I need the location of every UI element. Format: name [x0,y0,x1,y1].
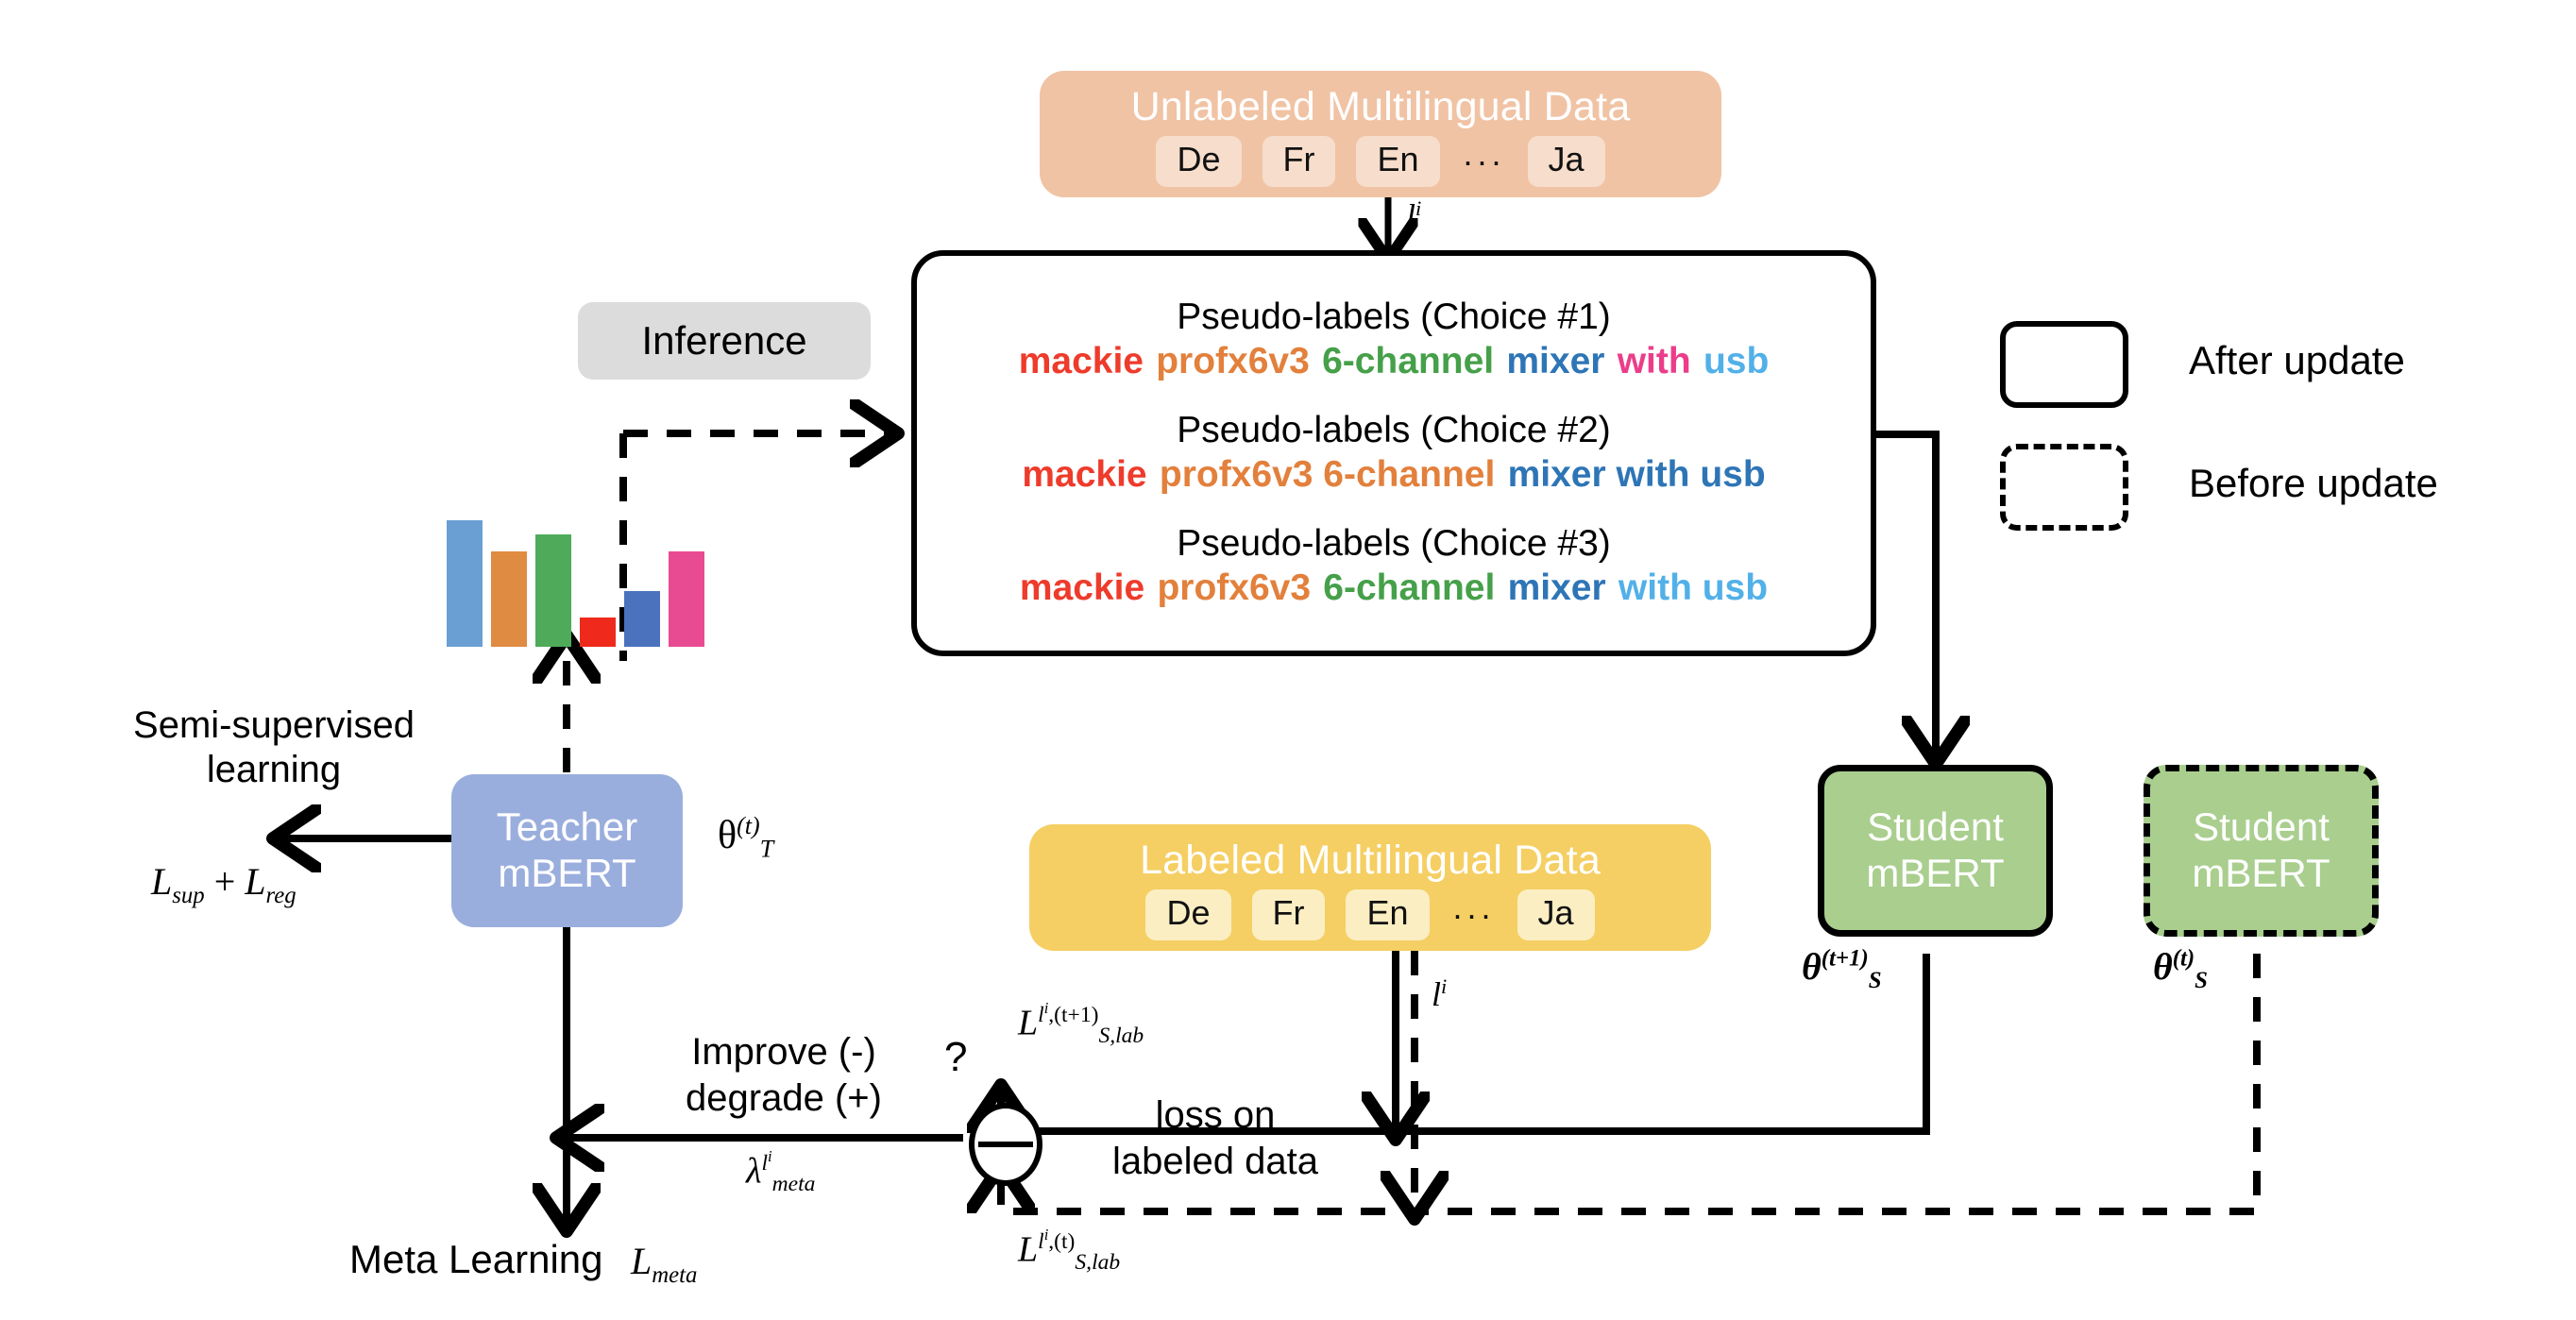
labeled-data-box: Labeled Multilingual Data De Fr En ··· J… [1029,824,1711,951]
bar-6 [669,551,704,647]
semi-supervised-line1: Semi-supervised [104,703,444,748]
token: mackie [1019,341,1144,381]
semi-supervised-learning-label: Semi-supervised learning [104,703,444,792]
chip-de[interactable]: De [1145,889,1230,939]
token: mixer [1506,341,1604,381]
bar-1 [447,520,483,647]
improve-line2: degrade (+) [628,1075,940,1122]
teacher-mbert-box[interactable]: Teacher mBERT [451,774,683,927]
token: mixer with usb [1508,454,1766,495]
question-mark: ? [944,1034,967,1081]
teacher-theta-label: θ(t)T [718,812,773,863]
legend-label-before-update: Before update [2189,461,2438,506]
token: 6-channel [1322,341,1494,381]
bar-5 [624,591,660,647]
token: mackie [1020,567,1144,608]
pseudo-label-row: Pseudo-labels (Choice #1) mackieprofx6v3… [1019,297,1770,382]
legend-swatch-before-update [2000,444,2128,531]
chip-ja[interactable]: Ja [1517,889,1595,939]
pseudo-labels-panel: Pseudo-labels (Choice #1) mackieprofx6v3… [911,250,1876,656]
token: with [1618,341,1691,381]
token: mixer [1508,567,1606,608]
student-after-theta-label: θ(t+1)S [1802,944,1882,994]
unlabeled-data-title: Unlabeled Multilingual Data [1131,86,1631,128]
student-before-line2: mBERT [2192,851,2330,897]
legend: After update Before update [2000,321,2529,519]
loss-after-update-label: Lli,(t+1)S,lab [1018,999,1144,1049]
labeled-data-title: Labeled Multilingual Data [1140,839,1601,882]
bar-4 [580,618,616,647]
loss-before-update-label: Lli,(t)S,lab [1018,1226,1120,1276]
chip-fr[interactable]: Fr [1252,889,1326,939]
pseudo-label-heading: Pseudo-labels (Choice #2) [1177,411,1611,451]
improve-degrade-label: Improve (-) degrade (+) [628,1029,940,1122]
chip-en[interactable]: En [1346,889,1429,939]
token: profx6v3 [1156,341,1310,381]
chip-ja[interactable]: Ja [1528,136,1605,186]
chip-ellipsis: ··· [1461,142,1507,181]
token: 6-channel [1323,567,1495,608]
token: profx6v3 6-channel [1160,454,1495,495]
pseudo-label-tokens: mackieprofx6v36-channelmixerwith usb [1020,568,1768,609]
bar-3 [535,534,571,647]
token: profx6v3 [1157,567,1311,608]
student-mbert-after-box[interactable]: Student mBERT [1818,765,2053,937]
meta-learning-label: Meta Learning [349,1237,603,1282]
teacher-distribution-barchart [447,515,730,647]
edge-label-labeled-li: li [1432,974,1447,1014]
legend-label-after-update: After update [2189,338,2405,383]
pseudo-label-row: Pseudo-labels (Choice #2) mackieprofx6v3… [1022,411,1765,496]
student-before-line1: Student [2193,804,2330,851]
token: usb [1703,341,1769,381]
loss-node-label: loss on labeled data [1059,1092,1371,1185]
inference-pill[interactable]: Inference [578,302,871,380]
pseudo-label-heading: Pseudo-labels (Choice #3) [1177,524,1611,565]
chip-en[interactable]: En [1356,136,1439,186]
teacher-line2: mBERT [498,851,636,897]
pseudo-label-tokens: mackieprofx6v3 6-channelmixer with usb [1022,455,1765,496]
labeled-chip-row: De Fr En ··· Ja [1145,889,1594,939]
unlabeled-data-box: Unlabeled Multilingual Data De Fr En ···… [1040,71,1721,197]
edge-label-unlabeled-li: li [1406,196,1421,236]
diagram-canvas: Unlabeled Multilingual Data De Fr En ···… [0,0,2576,1320]
token: mackie [1022,454,1146,495]
loss-node-line2: labeled data [1059,1139,1371,1185]
subtract-node [969,1103,1031,1175]
student-before-theta-label: θ(t)S [2153,944,2208,994]
loss-node-line1: loss on [1059,1092,1371,1139]
inference-label: Inference [641,318,806,364]
minus-bar [978,1142,1033,1147]
pseudo-label-tokens: mackieprofx6v36-channelmixerwithusb [1019,342,1770,382]
chip-ellipsis: ··· [1450,895,1497,935]
lambda-meta-label: λlimeta [746,1147,815,1197]
bar-2 [491,551,527,647]
legend-swatch-after-update [2000,321,2128,408]
token: with usb [1618,567,1768,608]
student-after-line2: mBERT [1866,851,2004,897]
chip-fr[interactable]: Fr [1263,136,1336,186]
loss-sup-reg-label: Lsup + Lreg [151,859,297,909]
chip-de[interactable]: De [1156,136,1241,186]
unlabeled-chip-row: De Fr En ··· Ja [1156,136,1604,186]
meta-loss-label: Lmeta [631,1239,697,1289]
student-mbert-before-box[interactable]: Student mBERT [2144,765,2379,937]
student-after-line1: Student [1867,804,2004,851]
pseudo-label-row: Pseudo-labels (Choice #3) mackieprofx6v3… [1020,524,1768,609]
pseudo-label-heading: Pseudo-labels (Choice #1) [1177,297,1611,338]
semi-supervised-line2: learning [104,748,444,792]
teacher-line1: Teacher [497,804,637,851]
improve-line1: Improve (-) [628,1029,940,1075]
